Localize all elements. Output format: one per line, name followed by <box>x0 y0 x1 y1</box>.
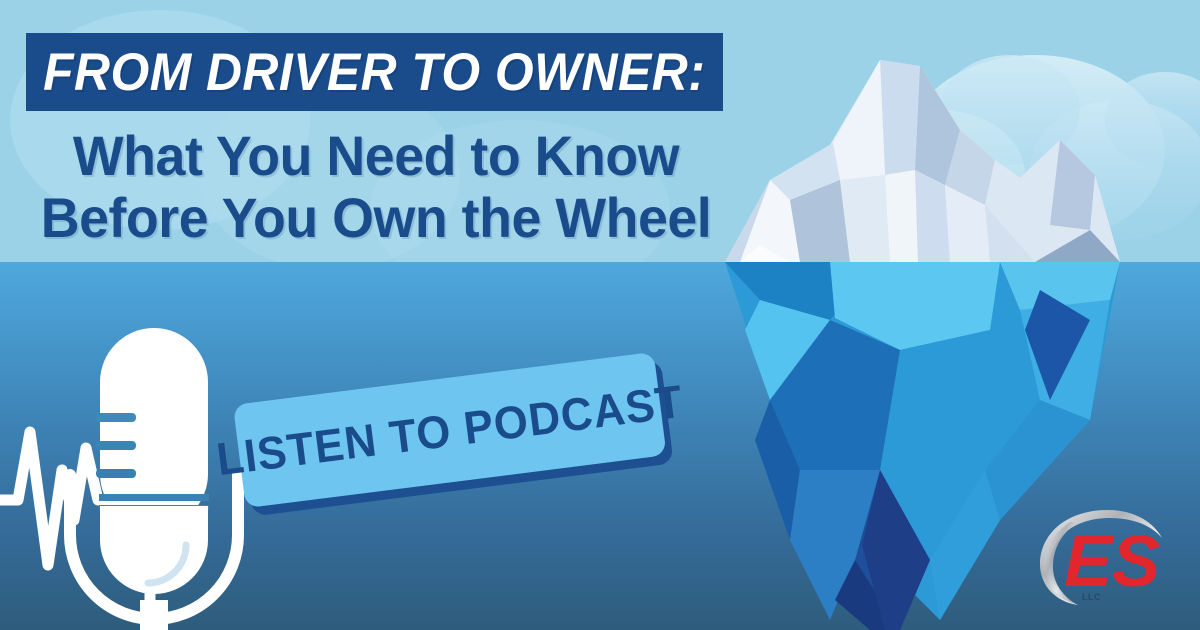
headline-subhead-line-1: What You Need to Know <box>40 125 712 187</box>
headline-kicker-bar: FROM DRIVER TO OWNER: <box>26 33 723 111</box>
headline-block: FROM DRIVER TO OWNER: What You Need to K… <box>26 33 726 248</box>
logo-suffix: LLC <box>1082 592 1101 602</box>
headline-subhead-line-2: Before You Own the Wheel <box>40 187 712 249</box>
headline-kicker: FROM DRIVER TO OWNER: <box>43 46 705 99</box>
podcast-banner: FROM DRIVER TO OWNER: What You Need to K… <box>0 0 1200 630</box>
logo-wordmark: ES <box>1064 522 1160 602</box>
es-llc-logo[interactable]: ES LLC <box>1030 500 1180 610</box>
headline-subhead: What You Need to Know Before You Own the… <box>26 125 726 248</box>
